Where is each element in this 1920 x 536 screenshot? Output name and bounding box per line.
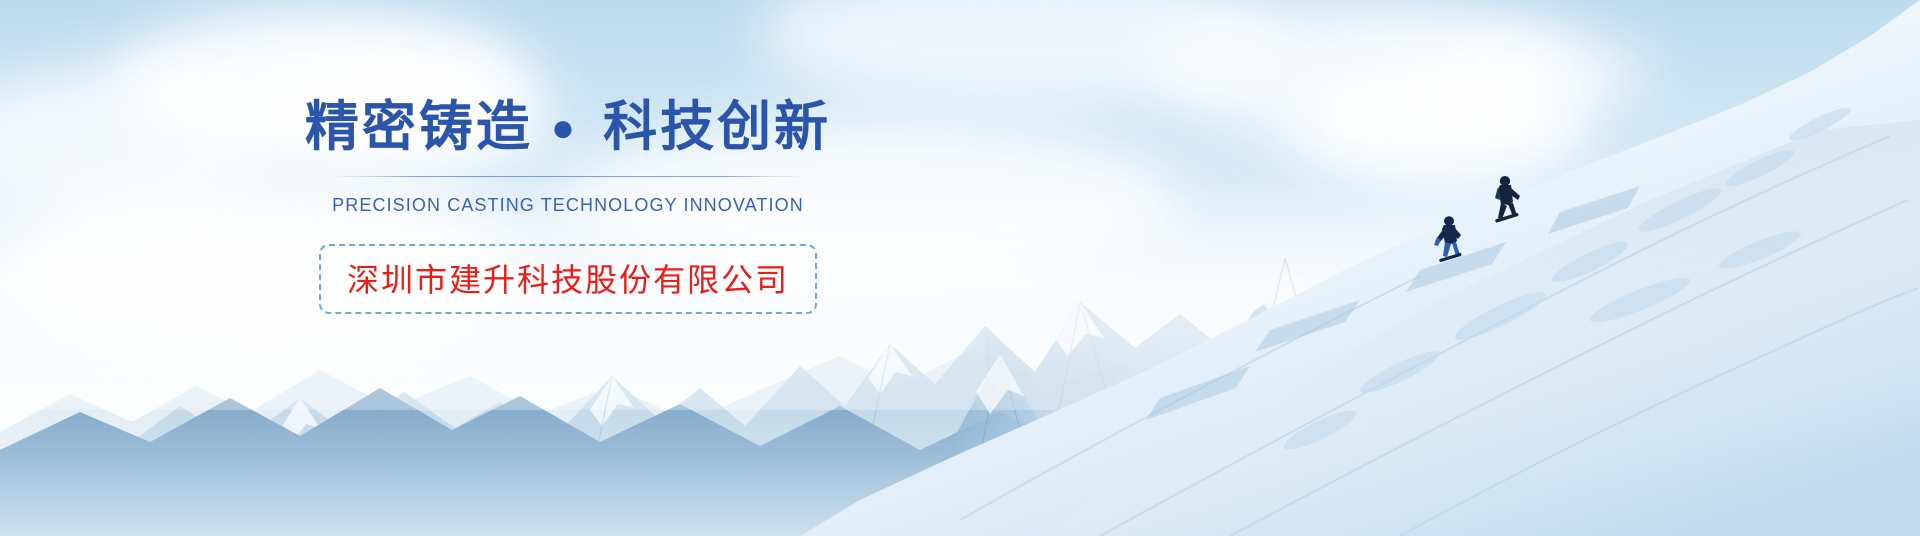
company-name-box: 深圳市建升科技股份有限公司: [319, 244, 817, 314]
subtitle: PRECISION CASTING TECHNOLOGY INNOVATION: [258, 195, 878, 216]
hero-banner: 精密铸造 ● 科技创新 PRECISION CASTING TECHNOLOGY…: [0, 0, 1920, 536]
banner-copy-block: 精密铸造 ● 科技创新 PRECISION CASTING TECHNOLOGY…: [258, 96, 878, 314]
climber-lead-icon: [1489, 174, 1523, 226]
page-title: 精密铸造 ● 科技创新: [258, 96, 878, 160]
company-name: 深圳市建升科技股份有限公司: [347, 255, 789, 301]
headline-right-text: 科技创新: [603, 97, 831, 157]
title-divider: [333, 176, 803, 177]
headline-left-text: 精密铸造: [305, 97, 533, 157]
headline-bullet-icon: ●: [551, 106, 585, 150]
climber-follow-icon: [1434, 214, 1466, 266]
cloud-shape: [0, 70, 280, 220]
snow-slope-right: [800, 0, 1920, 536]
